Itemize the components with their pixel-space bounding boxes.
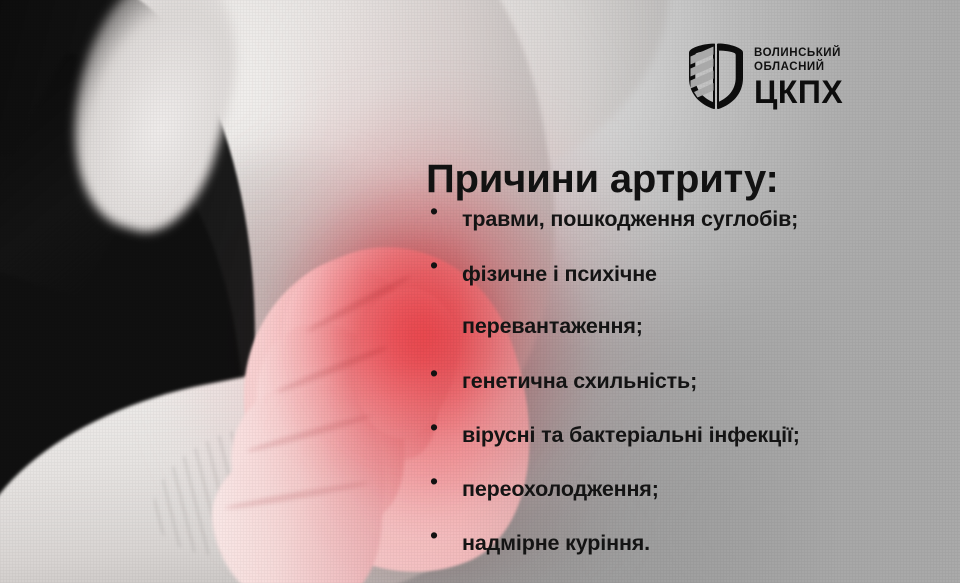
- logo-line-1: ВОЛИНСЬКИЙ: [754, 46, 843, 60]
- bullet-icon: •: [426, 464, 462, 498]
- list-item: • генетична схильність;: [426, 356, 946, 406]
- list-item-label: переохолодження;: [462, 464, 946, 514]
- bullet-icon: •: [426, 518, 462, 552]
- list-item: • надмірне куріння.: [426, 518, 946, 568]
- causes-list: • травми, пошкодження суглобів; • фізичн…: [426, 194, 946, 572]
- list-item-label: вірусні та бактеріальні інфекції;: [462, 410, 946, 460]
- list-item-label: травми, пошкодження суглобів;: [462, 194, 946, 244]
- poster-root: ВОЛИНСЬКИЙ ОБЛАСНИЙ ЦКПХ Причини артриту…: [0, 0, 960, 583]
- list-item: • вірусні та бактеріальні інфекції;: [426, 410, 946, 460]
- bullet-icon: •: [426, 356, 462, 390]
- list-item: • фізичне і психічне перевантаження;: [426, 248, 946, 352]
- list-item-label: фізичне і психічне перевантаження;: [462, 248, 762, 352]
- list-item: • переохолодження;: [426, 464, 946, 514]
- shield-logo-icon: [688, 42, 744, 110]
- logo-wordmark: ВОЛИНСЬКИЙ ОБЛАСНИЙ ЦКПХ: [754, 44, 843, 109]
- bullet-icon: •: [426, 410, 462, 444]
- bullet-icon: •: [426, 248, 462, 282]
- list-item-label: генетична схильність;: [462, 356, 946, 406]
- list-item: • травми, пошкодження суглобів;: [426, 194, 946, 244]
- list-item-label: надмірне куріння.: [462, 518, 946, 568]
- logo-abbreviation: ЦКПХ: [754, 75, 843, 109]
- content-layer: ВОЛИНСЬКИЙ ОБЛАСНИЙ ЦКПХ Причини артриту…: [0, 0, 960, 583]
- logo-lockup: ВОЛИНСЬКИЙ ОБЛАСНИЙ ЦКПХ: [688, 42, 843, 110]
- logo-line-2: ОБЛАСНИЙ: [754, 60, 843, 74]
- bullet-icon: •: [426, 194, 462, 228]
